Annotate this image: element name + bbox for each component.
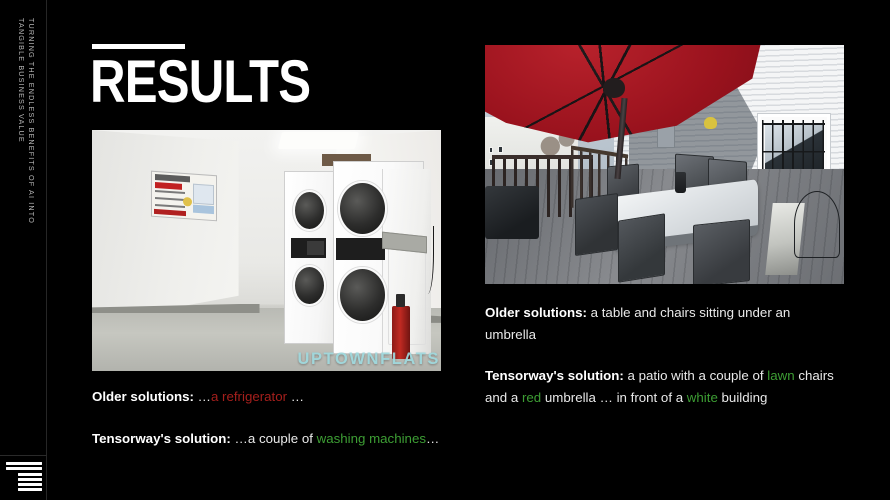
left-caption-tensorway: Tensorway's solution: …a couple of washi… (92, 428, 444, 450)
right-caption-highlight-white: white (687, 390, 718, 405)
poster-rules-title (155, 182, 182, 190)
patio-chair-5 (618, 213, 665, 283)
patio-chair-4 (575, 193, 618, 256)
sidebar-divider (0, 455, 47, 456)
poster-side-panel-2 (194, 205, 215, 214)
patio-photo (485, 45, 844, 284)
left-caption-older-after: … (287, 389, 304, 404)
sidebar-tagline-line-1: TURNING THE ENDLESS BENEFITS OF AI INTO (27, 18, 36, 224)
logo-bar-6 (18, 488, 42, 491)
sidebar-tagline: TURNING THE ENDLESS BENEFITS OF AI INTO … (0, 18, 47, 268)
umbrella-hub (603, 78, 625, 97)
patio-chair-6 (693, 219, 750, 284)
neighbor-window-1 (489, 147, 494, 154)
poster-side-panel (194, 184, 215, 206)
porch-lamp (704, 117, 717, 129)
washer-control-panel-2 (336, 238, 385, 260)
right-caption-older-label: Older solutions: (485, 305, 587, 320)
sidebar: TURNING THE ENDLESS BENEFITS OF AI INTO … (0, 0, 47, 500)
page-title: RESULTS (90, 52, 310, 112)
neighbor-window-2 (498, 146, 503, 153)
washer-door-3 (338, 181, 387, 236)
left-caption-tensorway-label: Tensorway's solution: (92, 431, 231, 446)
sidebar-tagline-line-2: TANGIBLE BUSINESS VALUE (17, 18, 26, 143)
plant-hanger-stand (794, 191, 841, 258)
right-caption-highlight-lawn: lawn (767, 368, 794, 383)
poster-footer-bar (154, 209, 186, 216)
left-caption-older-before: … (194, 389, 211, 404)
right-caption-tensorway-seg1: a patio with a couple of (624, 368, 767, 383)
rules-poster (151, 171, 217, 221)
washer-control-panel-3 (307, 241, 324, 255)
left-caption-older-highlight: a refrigerator (211, 389, 287, 404)
washer-door-2 (293, 265, 326, 306)
right-caption-tensorway: Tensorway's solution: a patio with a cou… (485, 365, 837, 408)
left-caption-block: Older solutions: …a refrigerator … Tenso… (92, 386, 444, 449)
logo-bar-5 (18, 483, 42, 486)
left-caption-older: Older solutions: …a refrigerator … (92, 386, 444, 408)
washer-door-4 (338, 267, 387, 322)
poster-text-lines (155, 191, 186, 195)
poster-seal (183, 197, 192, 207)
right-caption-tensorway-label: Tensorway's solution: (485, 368, 624, 383)
right-caption-tensorway-seg4: building (718, 390, 768, 405)
uptownflats-watermark: UPTOWNFLATS (297, 350, 440, 369)
left-caption-tensorway-highlight: washing machines (317, 431, 426, 446)
washer-door-1 (293, 190, 326, 231)
logo-bar-4 (18, 478, 42, 481)
ceiling-light (278, 132, 359, 149)
left-caption-tensorway-after: … (426, 431, 439, 446)
logo-bar-3 (18, 473, 42, 476)
right-caption-tensorway-seg3: umbrella … in front of a (541, 390, 687, 405)
tensorway-logo-mark-icon[interactable] (5, 462, 43, 494)
table-centerpiece (675, 172, 686, 194)
left-caption-tensorway-before: …a couple of (231, 431, 317, 446)
logo-bar-2 (6, 467, 42, 470)
logo-bar-1 (6, 462, 42, 465)
covered-grill (485, 186, 539, 239)
laundry-left-wall (92, 130, 239, 323)
laundry-room-photo: UPTOWNFLATS (92, 130, 441, 371)
left-caption-older-label: Older solutions: (92, 389, 194, 404)
right-caption-block: Older solutions: a table and chairs sitt… (485, 302, 837, 408)
right-caption-older: Older solutions: a table and chairs sitt… (485, 302, 837, 345)
right-caption-highlight-red: red (522, 390, 541, 405)
